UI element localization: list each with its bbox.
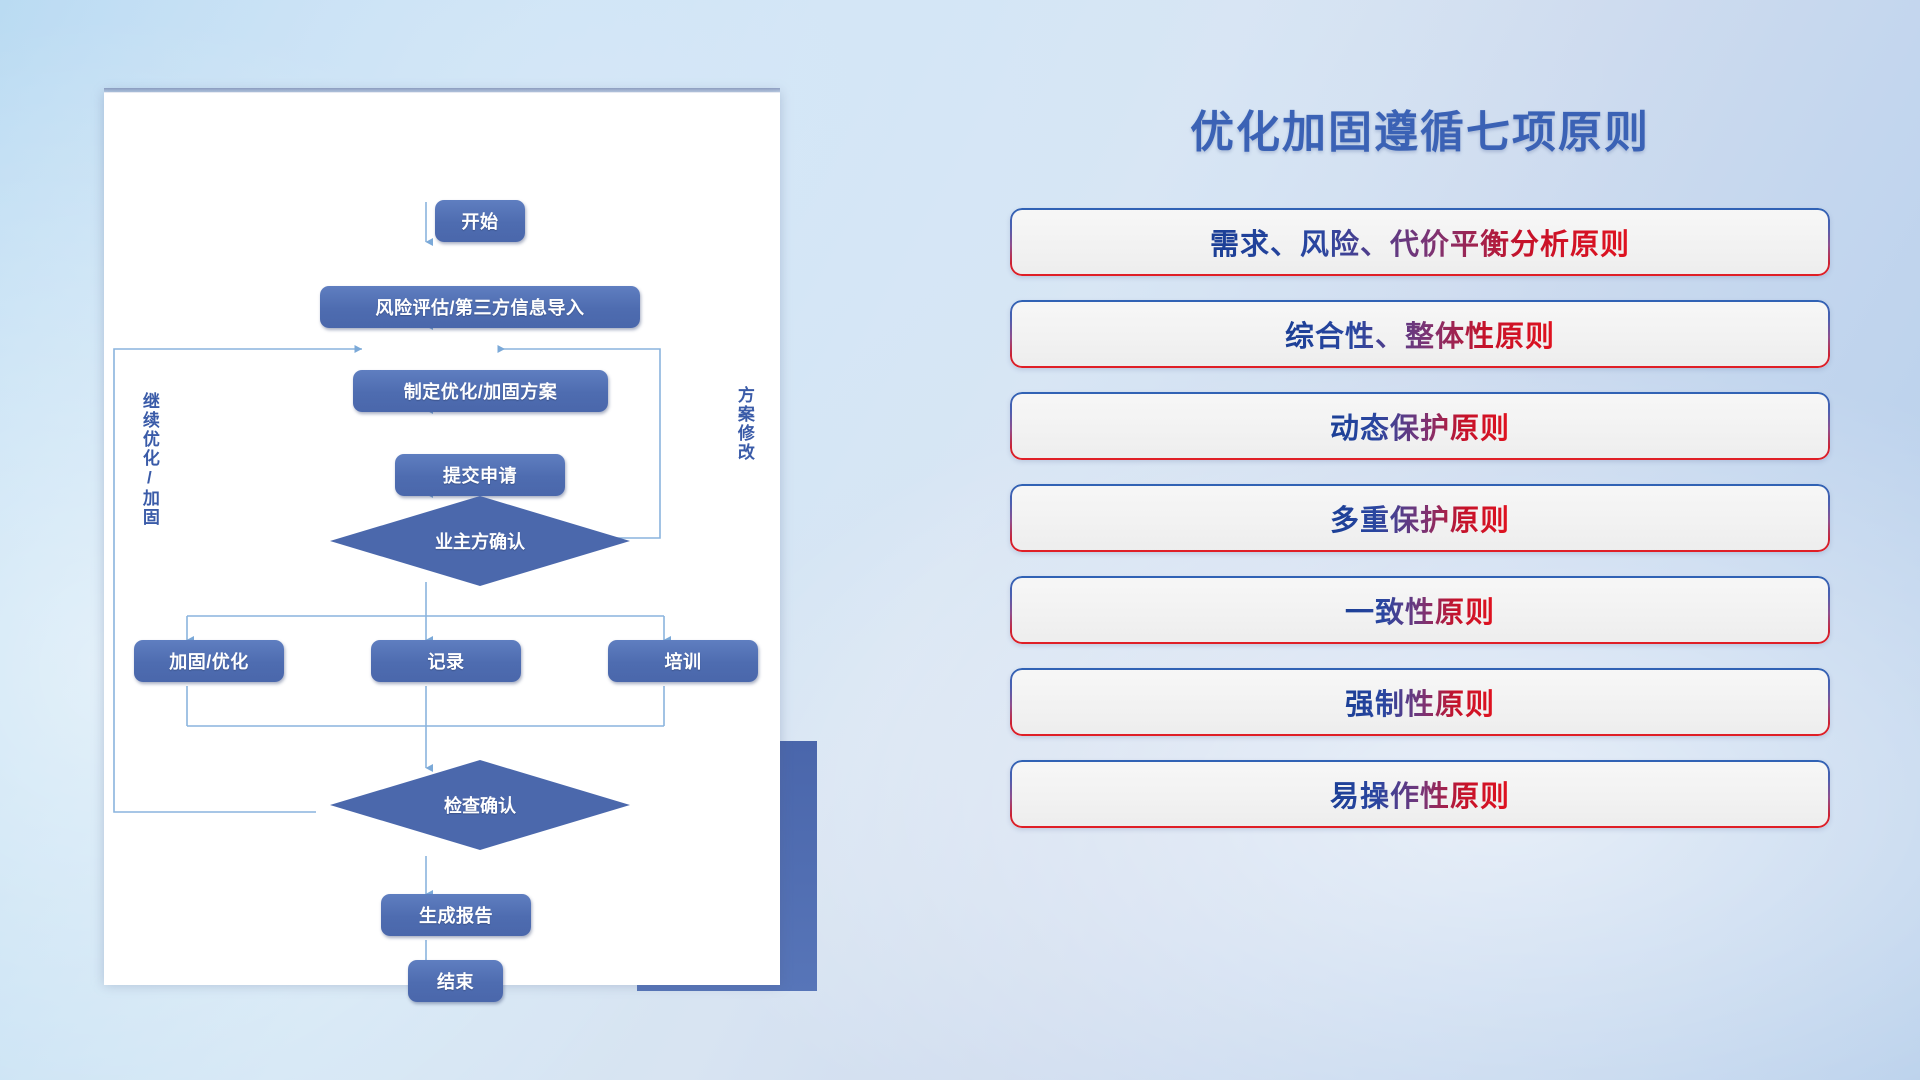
- flow-node-generate-report[interactable]: 生成报告: [381, 894, 531, 936]
- principles-section: 优化加固遵循七项原则 需求、风险、代价平衡分析原则 综合性、整体性原则 动态保护…: [1010, 96, 1830, 828]
- flow-node-reinforce[interactable]: 加固/优化: [134, 640, 284, 682]
- principle-label: 易操作性原则: [1330, 773, 1510, 815]
- loop-label-plan-revision: 方案修改: [735, 386, 753, 506]
- principle-label: 综合性、整体性原则: [1285, 313, 1555, 355]
- principle-label: 需求、风险、代价平衡分析原则: [1210, 221, 1630, 263]
- flow-node-label: 培训: [665, 648, 702, 674]
- flow-node-risk-assessment[interactable]: 风险评估/第三方信息导入: [320, 286, 640, 328]
- flow-node-label: 结束: [437, 968, 474, 994]
- principle-card[interactable]: 强制性原则: [1010, 668, 1830, 736]
- principle-card[interactable]: 需求、风险、代价平衡分析原则: [1010, 208, 1830, 276]
- flow-node-label: 检查确认: [444, 792, 516, 818]
- principles-title: 优化加固遵循七项原则: [1010, 96, 1830, 160]
- flow-node-label: 生成报告: [419, 902, 493, 928]
- flow-node-label: 风险评估/第三方信息导入: [376, 294, 585, 320]
- flow-node-label: 开始: [462, 208, 499, 234]
- principle-label: 多重保护原则: [1330, 497, 1510, 539]
- principle-card[interactable]: 易操作性原则: [1010, 760, 1830, 828]
- flow-node-label: 提交申请: [443, 462, 517, 488]
- flow-node-end[interactable]: 结束: [408, 960, 503, 1002]
- flow-node-label: 制定优化/加固方案: [404, 378, 558, 404]
- flow-node-training[interactable]: 培训: [608, 640, 758, 682]
- slide-root: 开始 风险评估/第三方信息导入 制定优化/加固方案 提交申请 业主方确认 加固/…: [0, 0, 1920, 1080]
- flow-node-record[interactable]: 记录: [371, 640, 521, 682]
- principle-label: 强制性原则: [1345, 681, 1495, 723]
- flow-node-label: 记录: [428, 648, 465, 674]
- principle-card[interactable]: 一致性原则: [1010, 576, 1830, 644]
- loop-label-continue-optimize: 继续优化/加固: [140, 392, 158, 552]
- principle-label: 一致性原则: [1345, 589, 1495, 631]
- flow-node-submit-application[interactable]: 提交申请: [395, 454, 565, 496]
- flow-node-label: 业主方确认: [435, 528, 525, 554]
- flow-node-label: 加固/优化: [169, 648, 249, 674]
- principles-list: 需求、风险、代价平衡分析原则 综合性、整体性原则 动态保护原则 多重保护原则 一…: [1010, 208, 1830, 828]
- principle-card[interactable]: 综合性、整体性原则: [1010, 300, 1830, 368]
- principle-card[interactable]: 多重保护原则: [1010, 484, 1830, 552]
- flow-node-start[interactable]: 开始: [435, 200, 525, 242]
- flow-node-plan[interactable]: 制定优化/加固方案: [353, 370, 608, 412]
- principle-label: 动态保护原则: [1330, 405, 1510, 447]
- principle-card[interactable]: 动态保护原则: [1010, 392, 1830, 460]
